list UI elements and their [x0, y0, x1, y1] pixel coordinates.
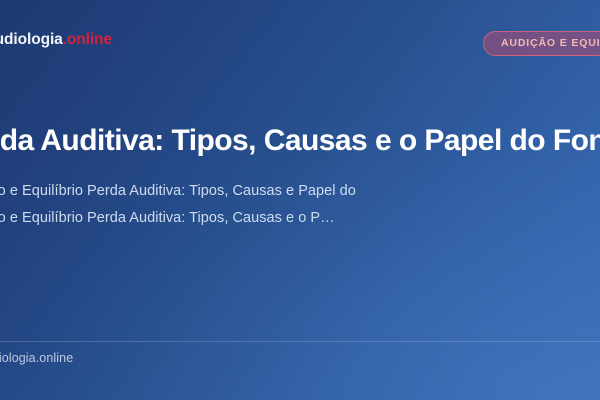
card-main: Perda Auditiva: Tipos, Causas e o Papel …	[0, 122, 600, 232]
card-content-frame: fonoaudiologia.online AUDIÇÃO E EQUILÍBR…	[0, 0, 600, 400]
footer-divider	[0, 341, 600, 342]
footer-site-url[interactable]: fonoaudiologia.online	[0, 351, 73, 365]
site-logo-tld: .online	[63, 31, 112, 48]
category-badge-label: AUDIÇÃO E EQUILÍBRIO	[501, 38, 600, 49]
card-header: fonoaudiologia.online AUDIÇÃO E EQUILÍBR…	[0, 24, 600, 62]
social-share-card: fonoaudiologia.online AUDIÇÃO E EQUILÍBR…	[0, 0, 600, 400]
article-subtitle-line-2: Audição e Equilíbrio Perda Auditiva: Tip…	[0, 205, 600, 232]
article-subtitle-line-1: Audição e Equilíbrio Perda Auditiva: Tip…	[0, 178, 600, 205]
card-footer: fonoaudiologia.online	[0, 349, 600, 369]
site-logo-name: fonoaudiologia	[0, 31, 63, 48]
category-badge[interactable]: AUDIÇÃO E EQUILÍBRIO	[483, 31, 600, 56]
article-subtitle: Audição e Equilíbrio Perda Auditiva: Tip…	[0, 159, 600, 232]
article-headline: Perda Auditiva: Tipos, Causas e o Papel …	[0, 122, 600, 159]
site-logo[interactable]: fonoaudiologia.online	[0, 30, 112, 50]
